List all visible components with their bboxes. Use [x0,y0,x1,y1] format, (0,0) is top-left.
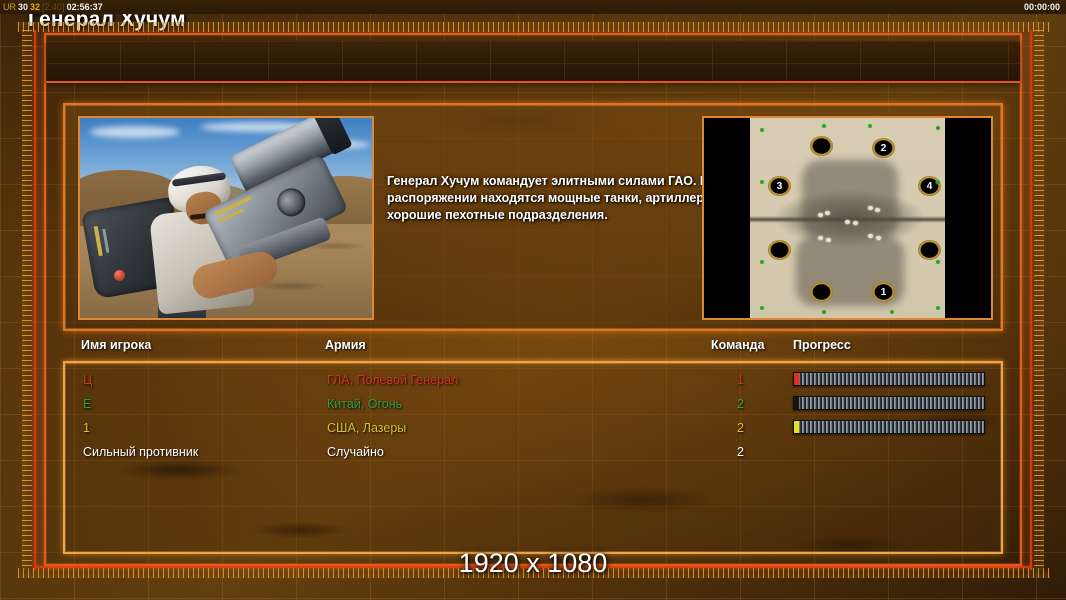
player-army: ГЛА, Полевой Генерал [327,368,458,392]
map-resource-marker [936,180,940,184]
map-resource-marker [760,306,764,310]
map-resource-marker [760,128,764,132]
table-row[interactable]: ЕКитай, Огонь2 [65,392,1001,416]
top-status-bar: UR3032[2:40]02:56:37 00:00:00 [0,0,1066,14]
player-team: 1 [737,368,744,392]
player-name: Ц [83,368,92,392]
map-structure-marker [868,234,873,238]
indicator-light-icon [114,270,125,281]
player-name: 1 [83,416,90,440]
progress-marker [794,421,799,433]
map-structure-marker [818,236,823,240]
map-start-position [810,136,833,156]
map-start-position [918,240,941,260]
column-header-team: Команда [711,338,765,352]
map-resource-marker [936,306,940,310]
letterbox-left [704,118,750,318]
player-army: Случайно [327,440,384,464]
terrain-blotch [802,160,898,238]
column-header-name: Имя игрока [81,338,151,352]
progress-bar [793,372,985,386]
map-structure-marker [818,213,823,217]
column-header-progress: Прогресс [793,338,851,352]
map-structure-marker [853,221,858,225]
rail-left-decoration [34,30,36,570]
map-structure-marker [826,238,831,242]
resolution-label: 1920 x 1080 [0,548,1066,579]
skirmish-loading-screen: UR3032[2:40]02:56:37 00:00:00 Генерал Ху… [0,0,1066,600]
map-resource-marker [890,310,894,314]
player-team: 2 [737,392,744,416]
map-structure-marker [876,236,881,240]
map-start-position: 1 [872,282,895,302]
rail-right-decoration [1030,30,1032,570]
title-bar [46,41,1020,83]
cloud-icon [90,126,180,138]
map-structure-marker [845,220,850,224]
player-table: Имя игрока Армия Команда Прогресс ЦГЛА, … [63,338,1003,554]
map-resource-marker [936,126,940,130]
map-resource-marker [760,180,764,184]
player-army: Китай, Огонь [327,392,402,416]
player-team: 2 [737,440,744,464]
ur-bracket: [2:40] [41,2,66,12]
table-row[interactable]: ЦГЛА, Полевой Генерал1 [65,368,1001,392]
map-preview: 2341 [702,116,993,320]
map-start-position: 3 [768,176,791,196]
player-army: США, Лазеры [327,416,406,440]
map-start-position: 4 [918,176,941,196]
title-grid-decoration [46,41,1020,81]
map-start-position [810,282,833,302]
map-structure-marker [875,208,880,212]
general-portrait [78,116,374,320]
player-name: Е [83,392,91,416]
map-start-position: 2 [872,138,895,158]
map-resource-marker [936,260,940,264]
player-name: Сильный противник [83,440,198,464]
map-structure-marker [825,211,830,215]
map-resource-marker [868,124,872,128]
table-header-row: Имя игрока Армия Команда Прогресс [63,338,1003,360]
map-terrain: 2341 [750,118,949,318]
progress-bar [793,396,985,410]
map-resource-marker [822,310,826,314]
map-resource-marker [822,124,826,128]
map-resource-marker [760,260,764,264]
general-description: Генерал Хучум командует элитными силами … [387,173,743,224]
ur-label: UR [2,2,17,12]
ruler-right-decoration [1034,30,1044,570]
player-team: 2 [737,416,744,440]
ur-value-1: 30 [17,2,29,12]
map-start-position [768,240,791,260]
general-info-panel: Генерал Хучум командует элитными силами … [63,103,1003,331]
progress-bar [793,420,985,434]
column-header-army: Армия [325,338,366,352]
session-clock: 02:56:37 [66,2,104,12]
table-body: ЦГЛА, Полевой Генерал1ЕКитай, Огонь21США… [63,363,1003,554]
top-status-left: UR3032[2:40]02:56:37 [2,0,104,14]
ruler-left-decoration [22,30,32,570]
map-structure-marker [868,206,873,210]
letterbox-right [945,118,991,318]
table-row[interactable]: Сильный противникСлучайно2 [65,440,1001,464]
ur-value-2: 32 [29,2,41,12]
progress-marker [794,373,799,385]
right-clock: 00:00:00 [1024,0,1060,14]
table-row[interactable]: 1США, Лазеры2 [65,416,1001,440]
progress-marker [794,397,799,409]
